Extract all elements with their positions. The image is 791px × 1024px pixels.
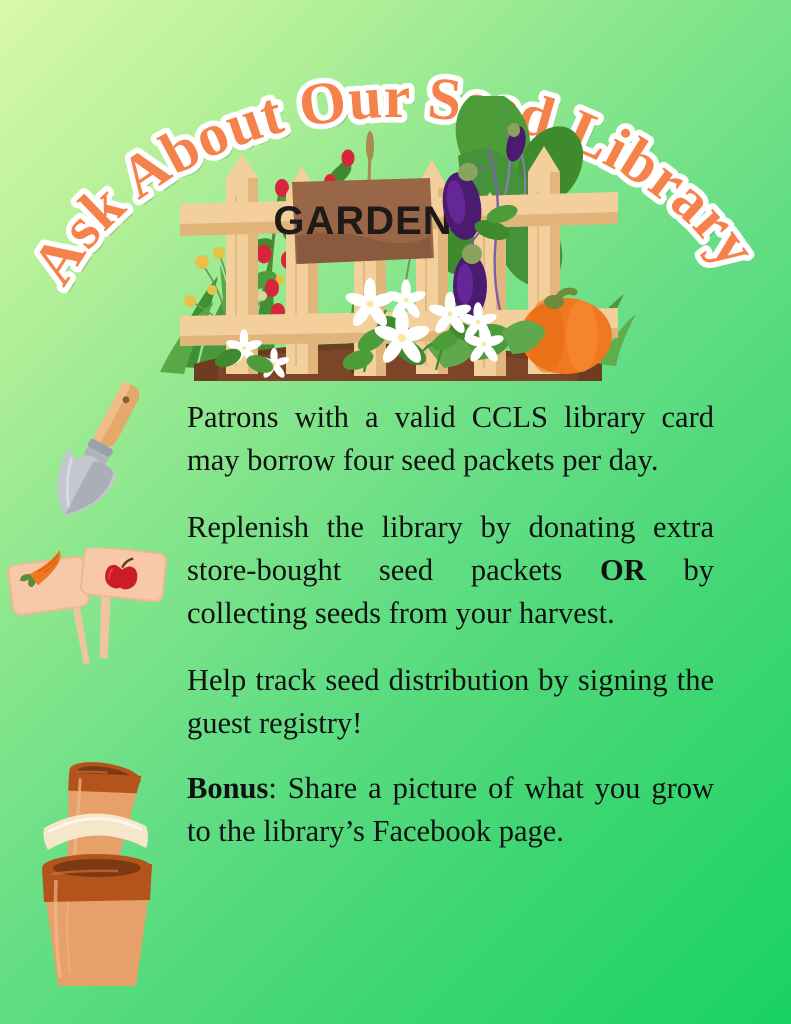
paragraph-replenish: Replenish the library by donating extra … <box>187 506 714 635</box>
paragraph-1-text: Patrons with a valid CCLS library card m… <box>187 400 714 477</box>
seed-library-poster: Ask About Our Seed Library Ask About Our… <box>0 0 791 1024</box>
garden-sign-label: GARDEN <box>273 199 452 243</box>
garden-trowel-icon <box>32 368 162 533</box>
garden-sign-icon: GARDEN <box>273 178 452 264</box>
paragraph-card-policy: Patrons with a valid CCLS library card m… <box>187 396 714 482</box>
paragraph-bonus: Bonus: Share a picture of what you grow … <box>187 767 714 853</box>
flower-pots-icon <box>22 742 172 992</box>
garden-fence-illustration: GARDEN <box>158 96 638 381</box>
paragraph-registry: Help track seed distribution by signing … <box>187 659 714 745</box>
paragraph-4-bold: Bonus <box>187 771 268 805</box>
paragraph-3-text: Help track seed distribution by signing … <box>187 663 714 740</box>
paragraph-2-bold: OR <box>600 553 646 587</box>
plant-markers-icon <box>2 548 174 708</box>
poster-body-text: Patrons with a valid CCLS library card m… <box>187 396 714 853</box>
